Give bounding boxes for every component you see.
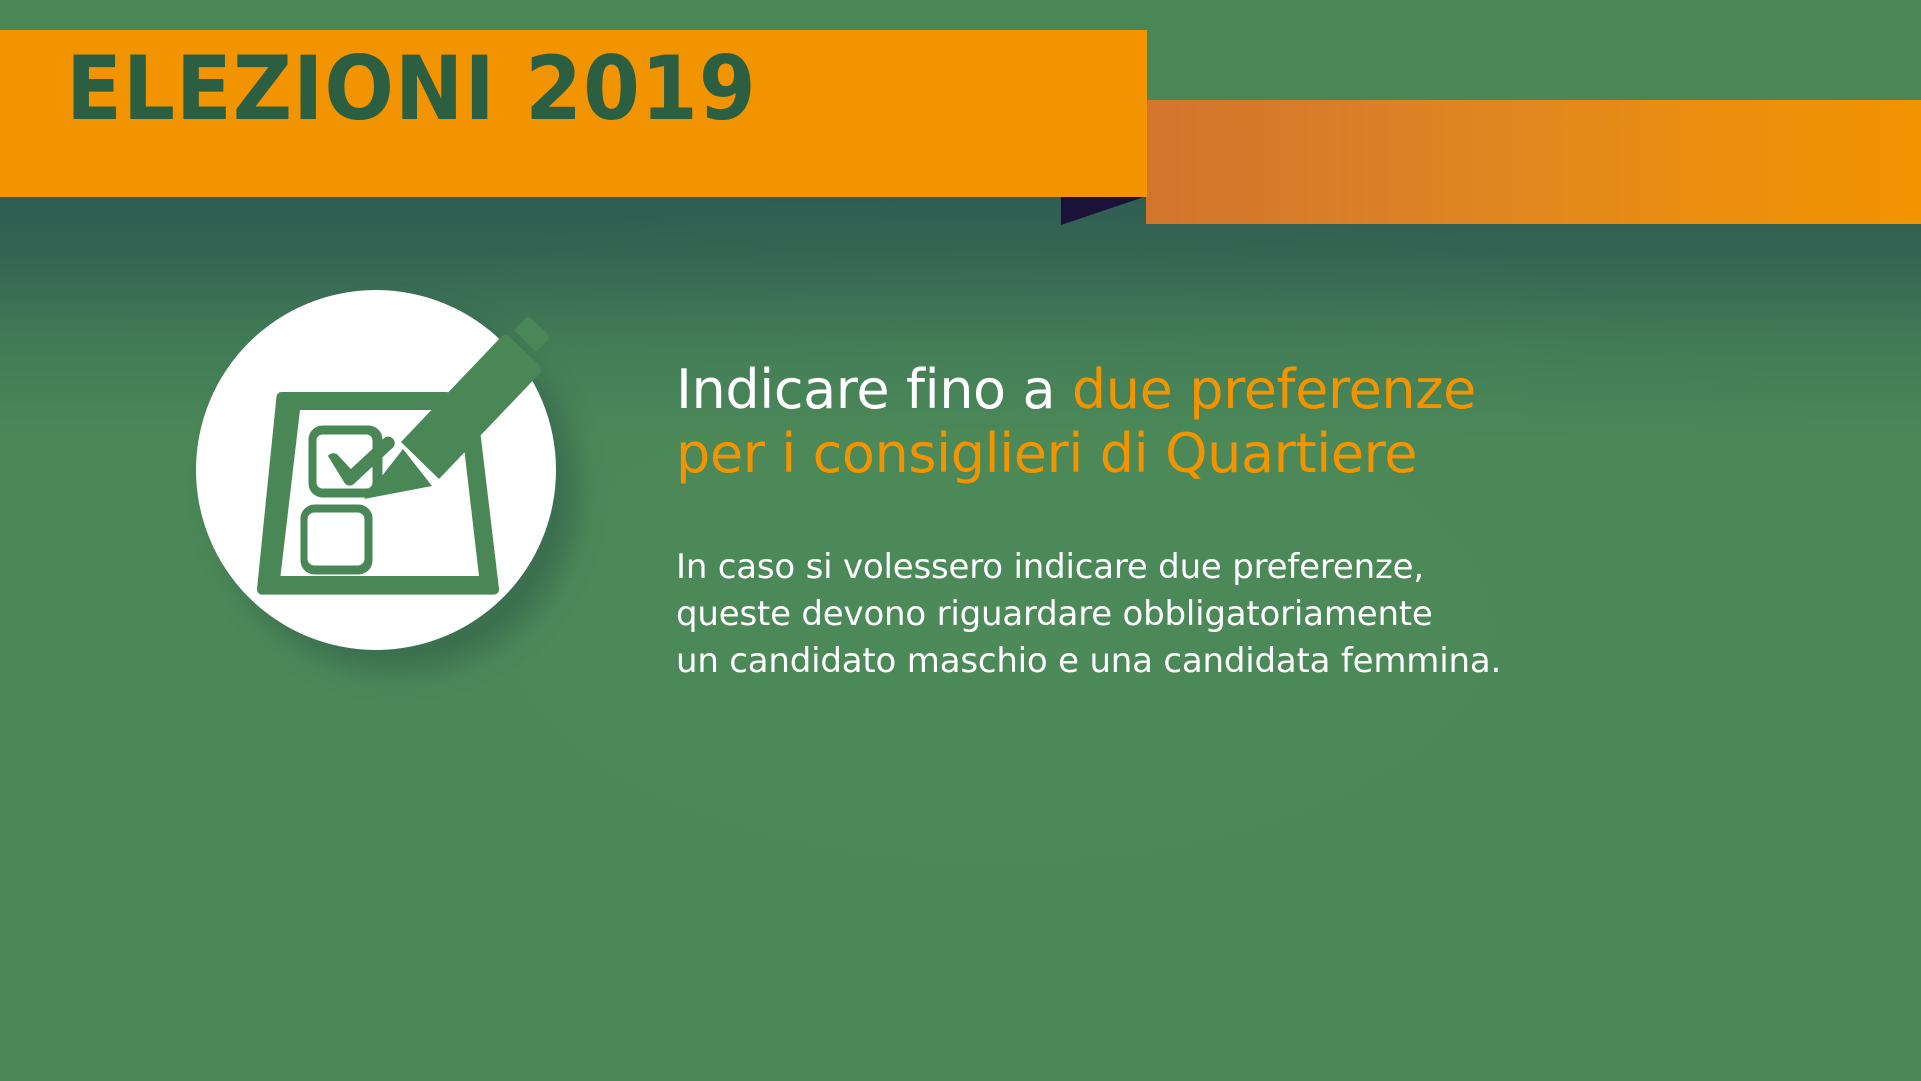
- headline-white-part: Indicare fino a: [676, 358, 1072, 421]
- body-copy: In caso si volessero indicare due prefer…: [676, 544, 1856, 685]
- slide-root: ELEZIONI 2019 Indic: [0, 0, 1921, 1081]
- body-line-1: In caso si volessero indicare due prefer…: [676, 544, 1856, 591]
- ballot-icon-badge: [196, 290, 566, 660]
- page-title: ELEZIONI 2019: [66, 45, 996, 133]
- body-line-3: un candidato maschio e una candidata fem…: [676, 638, 1856, 685]
- headline-orange-part-2: per i consiglieri di Quartiere: [676, 422, 1417, 485]
- headline: Indicare fino a due preferenze per i con…: [676, 358, 1836, 485]
- banner-secondary-band: [1146, 100, 1921, 224]
- body-line-2: queste devono riguardare obbligatoriamen…: [676, 591, 1856, 638]
- headline-orange-part-1: due preferenze: [1072, 358, 1476, 421]
- ballot-with-pencil-icon: [196, 290, 556, 650]
